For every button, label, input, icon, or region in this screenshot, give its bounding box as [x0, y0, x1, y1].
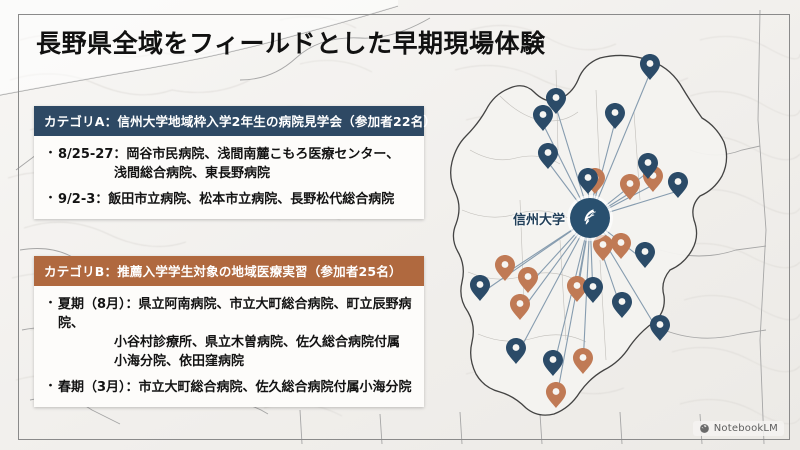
pin-hole	[657, 321, 664, 328]
category-a-body: ・ 8/25-27：岡谷市民病院、浅間南麓こもろ医療センター、 浅間総合病院、東…	[34, 136, 424, 219]
pin-hole	[590, 283, 597, 290]
bullet-marker: ・	[44, 145, 58, 163]
pin-hole	[627, 180, 634, 187]
university-hub-marker	[570, 198, 610, 238]
pin-hole	[580, 354, 587, 361]
pin-hole	[647, 60, 654, 67]
list-item-line-2: 浅間総合病院、東長野病院	[58, 164, 399, 183]
list-item-line-1: 夏期（8月）：県立阿南病院、市立大町総合病院、町立辰野病院、	[58, 297, 412, 331]
list-item-line-2: 小谷村診療所、県立木曽病院、佐久総合病院付属	[58, 333, 416, 352]
list-item-line-3: 小海分院、依田窪病院	[58, 352, 416, 371]
pin-hole	[540, 111, 547, 118]
list-item-text: 春期（3月）：市立大町総合病院、佐久総合病院付属小海分院	[58, 378, 412, 397]
pin-hole	[574, 282, 581, 289]
bullet-marker: ・	[44, 190, 58, 208]
pin-hole	[550, 356, 557, 363]
bullet-marker: ・	[44, 295, 58, 313]
pin-hole	[612, 109, 619, 116]
pin-hole	[513, 344, 520, 351]
category-b-header: カテゴリB：推薦入学学生対象の地域医療実習（参加者25名）	[34, 256, 424, 286]
category-panel-a: カテゴリA：信州大学地域枠入学2年生の病院見学会（参加者22名） ・ 8/25-…	[34, 106, 424, 219]
list-item-line-1: 春期（3月）：市立大町総合病院、佐久総合病院付属小海分院	[58, 380, 412, 395]
pin-hole	[618, 239, 625, 246]
list-item-text: 8/25-27：岡谷市民病院、浅間南麓こもろ医療センター、 浅間総合病院、東長野…	[58, 145, 399, 183]
list-item: ・ 9/2-3：飯田市立病院、松本市立病院、長野松代総合病院	[44, 190, 416, 209]
list-item-line-1: 9/2-3：飯田市立病院、松本市立病院、長野松代総合病院	[58, 192, 394, 207]
category-b-body: ・ 夏期（8月）：県立阿南病院、市立大町総合病院、町立辰野病院、 小谷村診療所、…	[34, 286, 424, 407]
pin-hole	[553, 94, 560, 101]
category-a-header: カテゴリA：信州大学地域枠入学2年生の病院見学会（参加者22名）	[34, 106, 424, 136]
watermark-label: NotebookLM	[714, 423, 778, 434]
pin-hole	[545, 149, 552, 156]
pin-hole	[502, 261, 509, 268]
university-wing-emblem-icon	[578, 206, 602, 230]
list-item: ・ 夏期（8月）：県立阿南病院、市立大町総合病院、町立辰野病院、 小谷村診療所、…	[44, 295, 416, 371]
pin-hole	[600, 241, 607, 248]
notebooklm-icon	[699, 423, 710, 434]
notebooklm-watermark: NotebookLM	[693, 421, 784, 436]
pin-hole	[585, 174, 592, 181]
list-item: ・ 春期（3月）：市立大町総合病院、佐久総合病院付属小海分院	[44, 378, 416, 397]
bullet-marker: ・	[44, 378, 58, 396]
list-item-line-1: 8/25-27：岡谷市民病院、浅間南麓こもろ医療センター、	[58, 147, 399, 162]
hub-label: 信州大学	[513, 209, 565, 228]
pin-hole	[619, 298, 626, 305]
pin-hole	[525, 273, 532, 280]
slide-canvas: 長野県全域をフィールドとした早期現場体験 カテゴリA：信州大学地域枠入学2年生の…	[0, 0, 800, 450]
category-panel-b: カテゴリB：推薦入学学生対象の地域医療実習（参加者25名） ・ 夏期（8月）：県…	[34, 256, 424, 407]
pin-hole	[642, 248, 649, 255]
pin-hole	[477, 281, 484, 288]
page-title: 長野県全域をフィールドとした早期現場体験	[36, 24, 546, 60]
pin-hole	[675, 178, 682, 185]
pin-hole	[517, 300, 524, 307]
pin-hole	[553, 388, 560, 395]
list-item-text: 9/2-3：飯田市立病院、松本市立病院、長野松代総合病院	[58, 190, 394, 209]
pin-hole	[645, 159, 652, 166]
list-item-text: 夏期（8月）：県立阿南病院、市立大町総合病院、町立辰野病院、 小谷村診療所、県立…	[58, 295, 416, 371]
list-item: ・ 8/25-27：岡谷市民病院、浅間南麓こもろ医療センター、 浅間総合病院、東…	[44, 145, 416, 183]
